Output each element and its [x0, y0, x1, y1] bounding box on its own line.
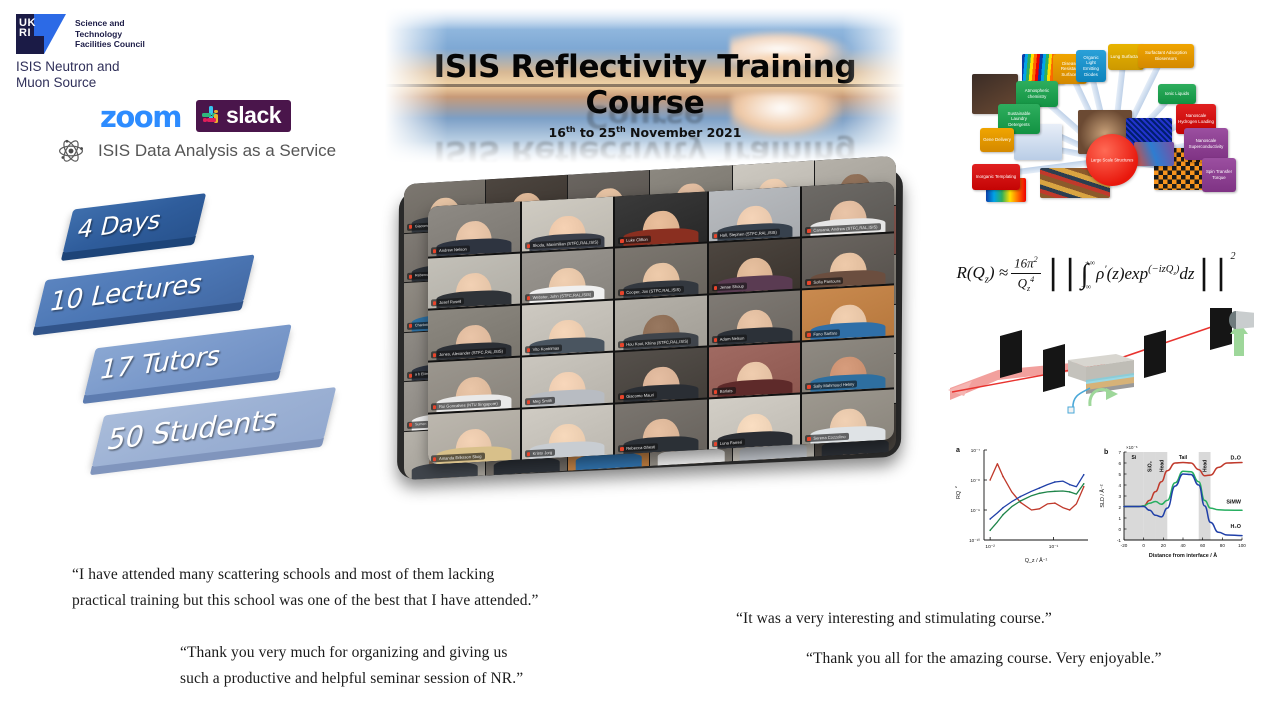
stfc-line-3: Facilities Council [75, 39, 145, 50]
zoom-participant-tile[interactable]: Sally Mahmoud Helmy [802, 337, 894, 392]
testimonial-quote-3: “It was a very interesting and stimulati… [736, 606, 1052, 632]
ukri-mark-icon: UKRI [16, 14, 66, 54]
web-node: Ionic Liquids [1158, 84, 1196, 104]
svg-text:20: 20 [1161, 543, 1167, 548]
svg-text:40: 40 [1180, 543, 1186, 548]
svg-text:10⁻⁸: 10⁻⁸ [971, 478, 981, 483]
svg-text:10⁻²: 10⁻² [985, 544, 995, 550]
zoom-participant-tile[interactable]: Fano Sarfaro [802, 285, 894, 340]
svg-text:4: 4 [1118, 483, 1121, 488]
equation-numerator: 16π2 [1011, 255, 1041, 273]
testimonial-quote-2: “Thank you very much for organizing and … [180, 640, 523, 692]
atom-icon [58, 138, 84, 164]
zoom-participant-tile[interactable]: Josef Rosell [428, 254, 520, 309]
svg-text:2: 2 [1118, 505, 1121, 510]
zoom-participant-tile[interactable]: Rebecca Ghesti [615, 400, 707, 455]
zoom-participant-tile[interactable]: Jones, Alexander (STFC,RAL,ISIS) [428, 306, 520, 361]
svg-text:×10⁻⁶: ×10⁻⁶ [1126, 445, 1138, 450]
stat-block-tutors: 17 Tutors [84, 324, 291, 395]
neutron-reflectometry-beam-diagram [938, 308, 1254, 428]
svg-text:Q_z / Å⁻¹: Q_z / Å⁻¹ [1025, 557, 1048, 564]
chart-panel-b: SiSiO₂HeadTailHeadb×10⁻⁶-101234567-20020… [1090, 428, 1254, 576]
zoom-participant-tile[interactable]: Meg Smith [522, 353, 614, 408]
zoom-participant-tile[interactable]: Luke Clifton [615, 192, 707, 247]
equation-abs-open: ∣∣ [1045, 260, 1079, 288]
quote-3-line-1: “It was a very interesting and stimulati… [736, 606, 1052, 632]
zoom-participant-tile[interactable]: Kristo Jorg [522, 405, 614, 460]
svg-text:100: 100 [1238, 543, 1246, 548]
reflectivity-results-plots: a10⁻⁷10⁻⁸10⁻⁹10⁻¹⁰10⁻²10⁻¹RQzQ_z / Å⁻¹ S… [944, 428, 1254, 576]
quote-2-line-2: such a productive and helpful seminar se… [180, 666, 523, 692]
slack-logo: slack [196, 100, 291, 132]
svg-text:10⁻⁷: 10⁻⁷ [971, 448, 981, 453]
slack-wordmark: slack [226, 104, 281, 127]
quote-2-line-1: “Thank you very much for organizing and … [180, 640, 523, 666]
slack-hash-icon [202, 106, 221, 125]
web-hub-label: Large Scale Structures [1086, 157, 1138, 162]
svg-text:SiMW: SiMW [1226, 500, 1242, 506]
zoom-participant-tile[interactable]: Adam Nelson [709, 290, 801, 345]
beam-path-svg [938, 308, 1254, 428]
web-node: Nanoscale Superconductivity [1184, 128, 1228, 160]
equation-lhs: R(Qz) ≈ [956, 263, 1008, 285]
equation-abs-close: ∣∣ [1196, 260, 1230, 288]
reflectivity-equation: R(Qz) ≈ 16π2 Qz4 ∣∣ +∞ ∫ −∞ ρ′(z)exp(−iz… [946, 243, 1246, 305]
testimonial-quote-1: “I have attended many scattering schools… [72, 562, 539, 614]
web-node: Organic Light Emitting Diodes [1076, 50, 1106, 82]
stat-block-days: 4 Days [63, 193, 206, 253]
stat-label-tutors: 17 Tutors [96, 341, 224, 387]
svg-text:b: b [1104, 449, 1108, 456]
stfc-wordmark: Science and Technology Facilities Counci… [75, 14, 145, 50]
zoom-participant-tile[interactable]: Amanda Eriksson Skog [428, 410, 520, 465]
ukri-stfc-logo: UKRI Science and Technology Facilities C… [16, 14, 145, 54]
zoom-participant-tile[interactable]: Rui Goncalves (NTU Singapore) [428, 358, 520, 413]
svg-text:SiO₂: SiO₂ [1148, 461, 1154, 472]
stfc-line-1: Science and [75, 18, 145, 29]
participant-torso [411, 461, 478, 479]
stat-block-students: 50 Students [92, 387, 336, 467]
svg-text:Head: Head [1159, 460, 1165, 472]
zoom-participant-tile[interactable]: Giacomo Mauri [615, 348, 707, 403]
feed-valve [1068, 407, 1074, 413]
integral-lower-limit: −∞ [1081, 283, 1091, 290]
svg-text:10⁻¹⁰: 10⁻¹⁰ [969, 538, 980, 543]
zoom-logo: zoom [100, 100, 181, 134]
equation-outer-power: 2 [1231, 251, 1236, 262]
zoom-participant-tile[interactable]: Webster, John (STFC,RAL,ISIS) [522, 249, 614, 304]
svg-text:z: z [954, 486, 958, 488]
zoom-participant-tile[interactable]: Sofia Pantoura [802, 233, 894, 288]
stat-block-lectures: 10 Lectures [34, 254, 254, 327]
svg-text:H₂O: H₂O [1231, 524, 1241, 530]
stat-label-days: 4 Days [75, 205, 165, 244]
svg-text:Distance from interface / Å: Distance from interface / Å [1149, 552, 1217, 559]
integral-sign: ∫ [1081, 266, 1089, 283]
svg-text:0: 0 [1118, 527, 1121, 532]
svg-text:-20: -20 [1121, 543, 1128, 548]
equation-denominator: Qz4 [1015, 274, 1038, 293]
idaas-row: ISIS Data Analysis as a Service [58, 138, 336, 164]
zoom-participant-tile[interactable]: Cooper, Jos (STFC,RAL,ISIS) [615, 244, 707, 299]
web-node: Spin Transfer Torque [1202, 158, 1236, 192]
svg-text:Tail: Tail [1179, 455, 1188, 461]
svg-text:10⁻¹: 10⁻¹ [1049, 544, 1059, 550]
web-node: Gene Delivery [980, 128, 1014, 152]
zoom-participant-tile[interactable]: Caruana, Andrew (STFC,RAL,ISIS) [802, 181, 894, 236]
zoom-participant-tile[interactable]: Andrew Nelson [428, 202, 520, 257]
course-stats: 4 Days 10 Lectures 17 Tutors 50 Students [40, 190, 380, 490]
svg-text:6: 6 [1118, 461, 1121, 466]
quote-1-line-2: practical training but this school was o… [72, 588, 539, 614]
course-title-banner: ISIS Reflectivity Training Course ISIS R… [385, 8, 905, 163]
svg-text:RQ: RQ [956, 491, 962, 499]
zoom-participant-tile[interactable]: Skoda, Maximilian (STFC,RAL,ISIS) [522, 197, 614, 252]
ukri-letters: UKRI [19, 18, 36, 38]
zoom-participant-tile[interactable]: Barlats [709, 342, 801, 397]
web-thumbnail [1134, 142, 1174, 166]
svg-text:Head: Head [1203, 460, 1209, 472]
svg-text:a: a [956, 447, 960, 454]
banner-edge-fade [385, 8, 905, 163]
zoom-participant-tile[interactable]: Vito Kontrimas [522, 301, 614, 356]
web-node: Surfactant Adsorption Biosensors [1138, 44, 1194, 68]
svg-text:D₂O: D₂O [1231, 456, 1241, 462]
svg-text:10⁻⁹: 10⁻⁹ [970, 508, 980, 513]
svg-text:1: 1 [1118, 516, 1121, 521]
svg-text:80: 80 [1220, 543, 1226, 548]
zoom-participant-tile[interactable]: Hall, Stephen (STFC,RAL,ISIS) [709, 186, 801, 241]
zoom-participant-tile[interactable]: Jenae Shoup [709, 238, 801, 293]
svg-text:SLD / Å⁻²: SLD / Å⁻² [1099, 484, 1106, 507]
zoom-participant-tile[interactable]: Hou Kooi, Khina (STFC,RAL,ISIS) [615, 296, 707, 351]
isis-source-name: ISIS Neutron and Muon Source [16, 59, 120, 90]
equation-prefactor-fraction: 16π2 Qz4 [1011, 255, 1041, 292]
web-node: Inorganic Templating [972, 164, 1020, 190]
zoom-meeting-gallery: GiacomoRebeccaCharlottea b EliteSumen An… [392, 172, 910, 472]
stfc-line-2: Technology [75, 29, 145, 40]
zoom-participant-tile[interactable]: Serena Cozzolino [802, 389, 894, 444]
zoom-participant-tile[interactable]: Luna Farreri [709, 394, 801, 449]
detector-body [1236, 311, 1254, 329]
quote-1-line-1: “I have attended many scattering schools… [72, 562, 539, 588]
svg-text:5: 5 [1118, 472, 1121, 477]
quote-4-line-1: “Thank you all for the amazing course. V… [806, 646, 1162, 672]
svg-text:Si: Si [1131, 455, 1136, 461]
equation-integral: +∞ ∫ −∞ [1081, 259, 1095, 290]
svg-text:60: 60 [1200, 543, 1206, 548]
equation-integrand: ρ′(z)exp(−izQz)dz [1096, 264, 1194, 284]
testimonial-quote-4: “Thank you all for the amazing course. V… [806, 646, 1162, 672]
idaas-label: ISIS Data Analysis as a Service [98, 141, 336, 161]
zoom-gallery-front-page: Andrew NelsonSkoda, Maximilian (STFC,RAL… [428, 181, 894, 464]
chart-panel-a: a10⁻⁷10⁻⁸10⁻⁹10⁻¹⁰10⁻²10⁻¹RQzQ_z / Å⁻¹ [944, 428, 1094, 576]
svg-text:3: 3 [1118, 494, 1121, 499]
svg-text:0: 0 [1142, 543, 1145, 548]
sample-cell [1068, 354, 1134, 394]
large-scale-structures-diagram: Disease Resistant SurfacesOrganic Light … [958, 26, 1258, 206]
svg-text:7: 7 [1118, 450, 1121, 455]
participant-name-label: Barlats [712, 387, 736, 395]
web-hub: Large Scale Structures [1086, 134, 1138, 186]
participant-name-label: Sumen [407, 420, 429, 428]
